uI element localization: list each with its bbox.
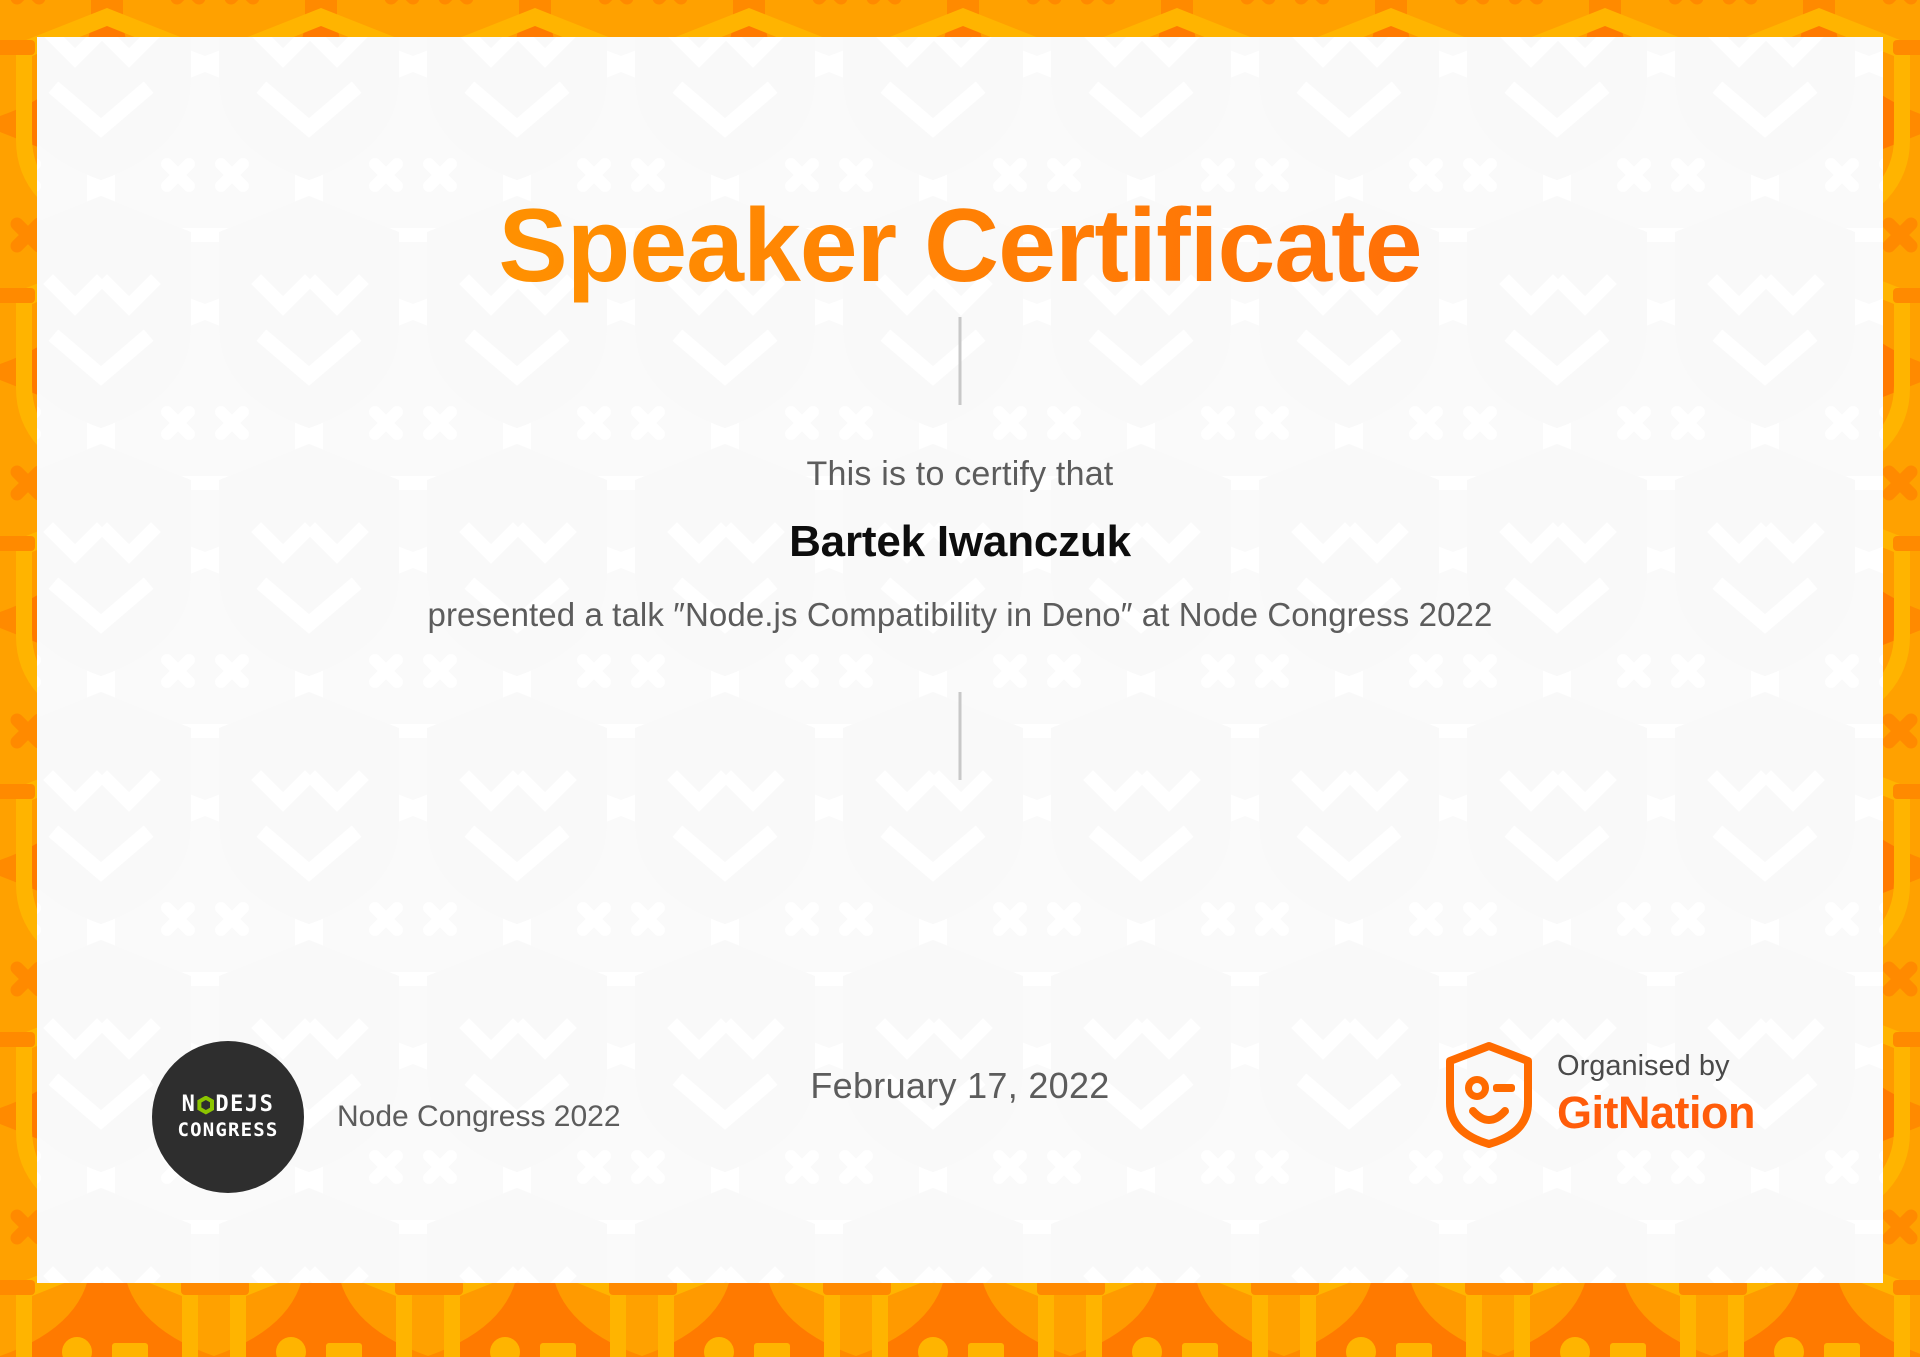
talk-description: presented a talk ″Node.js Compatibility … <box>37 596 1883 634</box>
organiser-group: Organised by GitNation <box>1443 1041 1755 1149</box>
nodejs-congress-logo-icon: N DEJS CONGRESS <box>152 1041 304 1193</box>
gitnation-wordmark: GitNation <box>1557 1086 1755 1140</box>
badge-congress-line: CONGRESS <box>177 1121 278 1140</box>
organiser-text-block: Organised by GitNation <box>1557 1050 1755 1139</box>
divider-rule-top <box>959 317 962 405</box>
divider-rule-bottom <box>959 692 962 780</box>
gitnation-shield-icon <box>1443 1041 1535 1149</box>
certificate-frame: Speaker Certificate This is to certify t… <box>0 0 1920 1357</box>
recipient-name: Bartek Iwanczuk <box>37 517 1883 567</box>
certify-statement: This is to certify that <box>37 455 1883 494</box>
certificate-card: Speaker Certificate This is to certify t… <box>37 37 1883 1283</box>
event-logo-group: N DEJS CONGRESS Node Congress 2022 <box>152 1041 621 1193</box>
certificate-body: This is to certify that Bartek Iwanczuk … <box>37 455 1883 634</box>
certificate-footer: N DEJS CONGRESS Node Congress 2022 Febru… <box>37 983 1883 1283</box>
page-title: Speaker Certificate <box>37 189 1883 303</box>
organised-by-label: Organised by <box>1557 1050 1755 1083</box>
